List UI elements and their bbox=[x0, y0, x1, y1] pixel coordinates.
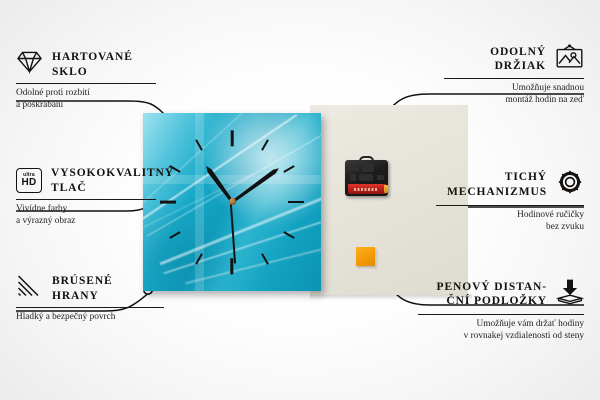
product-photo bbox=[143, 105, 468, 300]
feature-title: PENOVÝ DISTAN- ČNÍ PODLOŽKY bbox=[437, 280, 547, 309]
feature-description: Vivídne farby a výrazný obraz bbox=[16, 204, 156, 227]
feature-description: Odolné proti rozbití a poškrábání bbox=[16, 88, 156, 111]
feature-description: Umožňuje snadnou montáž hodin na zeď bbox=[444, 83, 584, 106]
battery-label bbox=[354, 188, 378, 191]
feature-hardened-glass: HARTOVANÉ SKLO Odolné proti rozbití a po… bbox=[16, 50, 156, 111]
mechanism-detail bbox=[350, 165, 359, 171]
feature-divider bbox=[444, 78, 584, 79]
mechanism-body bbox=[345, 160, 388, 196]
foam-spacer-pad bbox=[356, 247, 375, 266]
feature-ground-edges: BRÚSENÉ HRANY Hladký a bezpečný povrch bbox=[16, 274, 164, 324]
battery bbox=[348, 184, 386, 194]
mechanism-detail bbox=[377, 175, 384, 180]
mechanism-detail bbox=[359, 174, 373, 181]
feature-description: Hladký a bezpečný povrch bbox=[16, 312, 164, 324]
diamond-icon bbox=[16, 50, 43, 79]
clock-tick bbox=[231, 258, 234, 274]
clock-tick bbox=[160, 201, 176, 204]
clock-face bbox=[143, 113, 321, 291]
clock-tick bbox=[288, 201, 304, 204]
feature-title: BRÚSENÉ HRANY bbox=[52, 274, 113, 303]
feature-divider bbox=[16, 83, 156, 84]
feature-divider bbox=[418, 314, 584, 315]
feature-title: VYSOKOKVALITNÝ TLAČ bbox=[51, 166, 174, 195]
feature-description: Hodinové ručičky bez zvuku bbox=[436, 210, 584, 233]
ultra-hd-badge-icon: ultra HD bbox=[16, 168, 42, 193]
infographic-canvas: HARTOVANÉ SKLO Odolné proti rozbití a po… bbox=[0, 0, 600, 400]
gear-icon bbox=[556, 168, 584, 201]
feature-title: ODOLNÝ DRŽIAK bbox=[490, 45, 546, 74]
feature-silent-mechanism: TICHÝ MECHANIZMUS Hodinové ručičk bbox=[436, 168, 584, 233]
mechanism-detail bbox=[362, 164, 374, 172]
picture-hanger-icon bbox=[555, 44, 584, 74]
clock-mechanism bbox=[345, 156, 388, 196]
hand-center-cap bbox=[229, 198, 236, 205]
ground-edges-icon bbox=[16, 274, 43, 303]
feature-divider bbox=[436, 205, 584, 206]
spacer-arrow-icon bbox=[556, 278, 584, 310]
feature-title: TICHÝ MECHANIZMUS bbox=[447, 170, 547, 199]
feature-divider bbox=[16, 307, 164, 308]
feature-high-quality-print: ultra HD VYSOKOKVALITNÝ TLAČ Vivídne far… bbox=[16, 166, 156, 227]
mechanism-detail bbox=[350, 174, 356, 181]
clock-tick bbox=[231, 130, 234, 146]
feature-title: HARTOVANÉ SKLO bbox=[52, 50, 133, 79]
feature-description: Umožňuje vám držať hodiny v rovnakej vzd… bbox=[418, 319, 584, 342]
feature-divider bbox=[16, 199, 156, 200]
feature-foam-spacers: PENOVÝ DISTAN- ČNÍ PODLOŽKY Umožňuje vám… bbox=[418, 278, 584, 342]
feature-durable-hanger: ODOLNÝ DRŽIAK Umožňuje snadnou montáž ho… bbox=[444, 44, 584, 106]
badge-main-text: HD bbox=[21, 178, 36, 188]
